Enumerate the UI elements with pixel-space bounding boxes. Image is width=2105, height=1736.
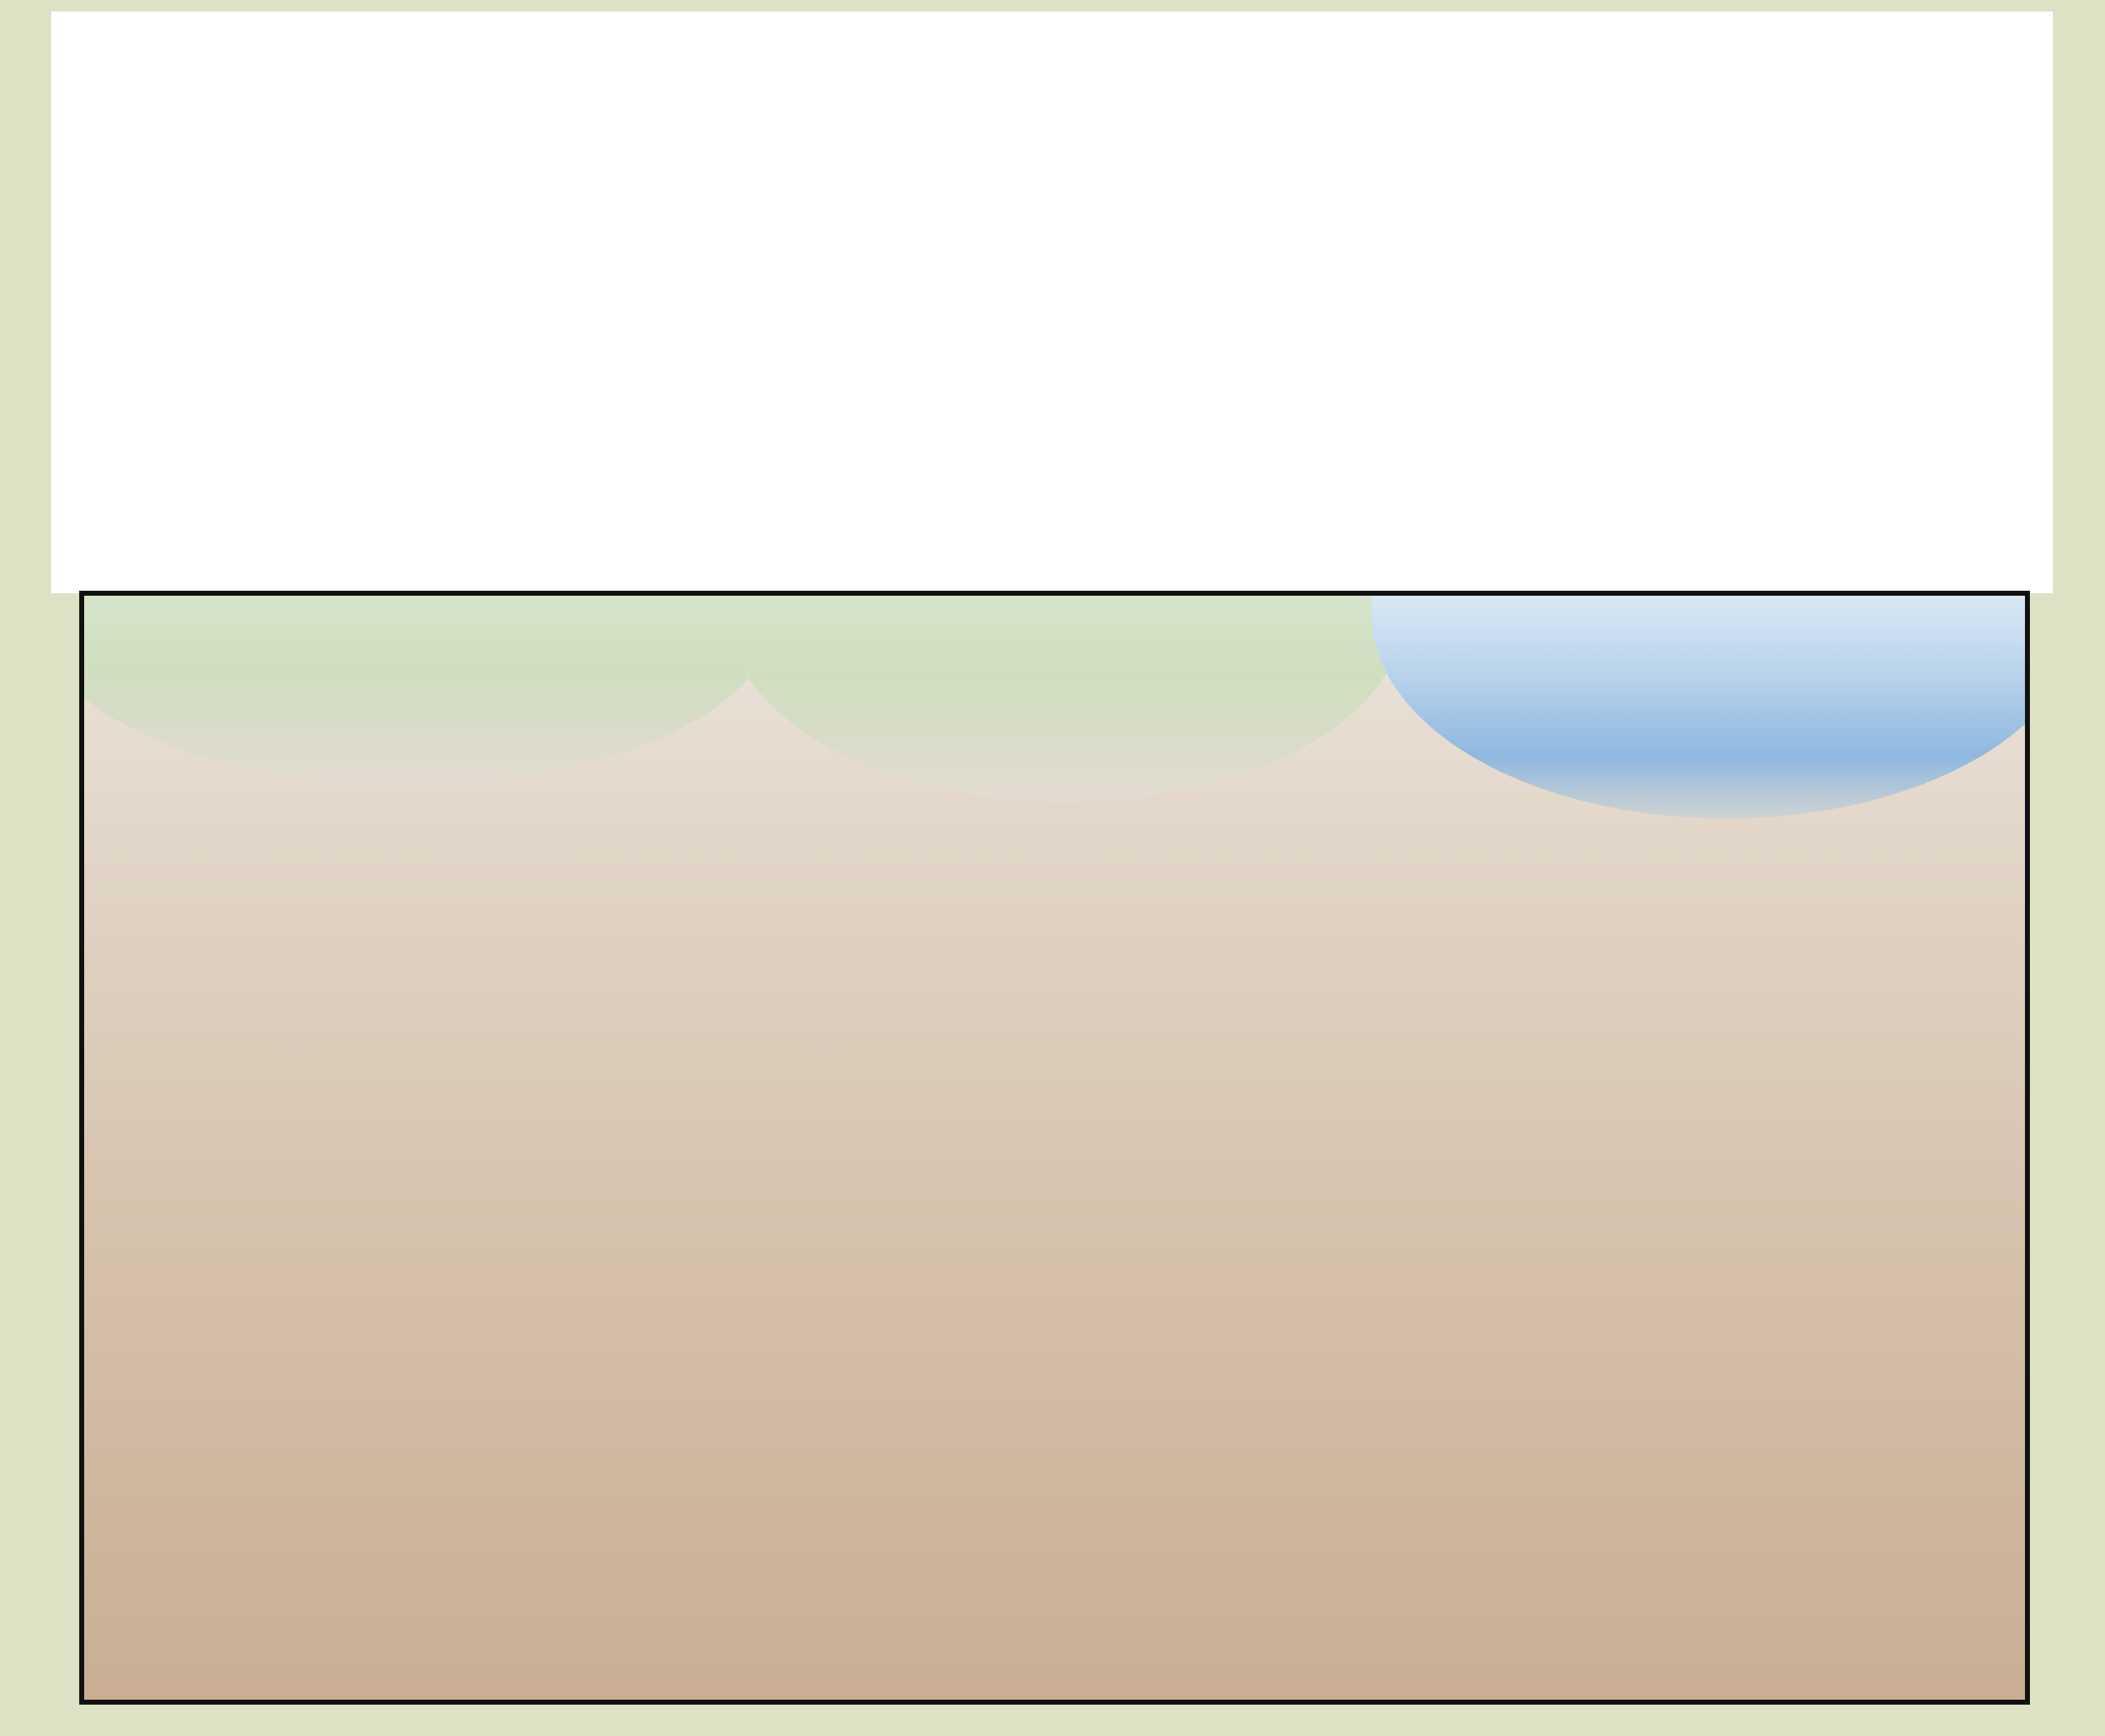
top-scene-panel <box>51 12 2053 593</box>
figure-root <box>0 0 2105 1736</box>
topsoil-layer-manure <box>79 596 777 785</box>
topsoil-layer-ntrt <box>728 596 1404 802</box>
soil-profile-box <box>79 591 2030 1705</box>
topsoil-layer-covercrops <box>1371 596 2030 818</box>
